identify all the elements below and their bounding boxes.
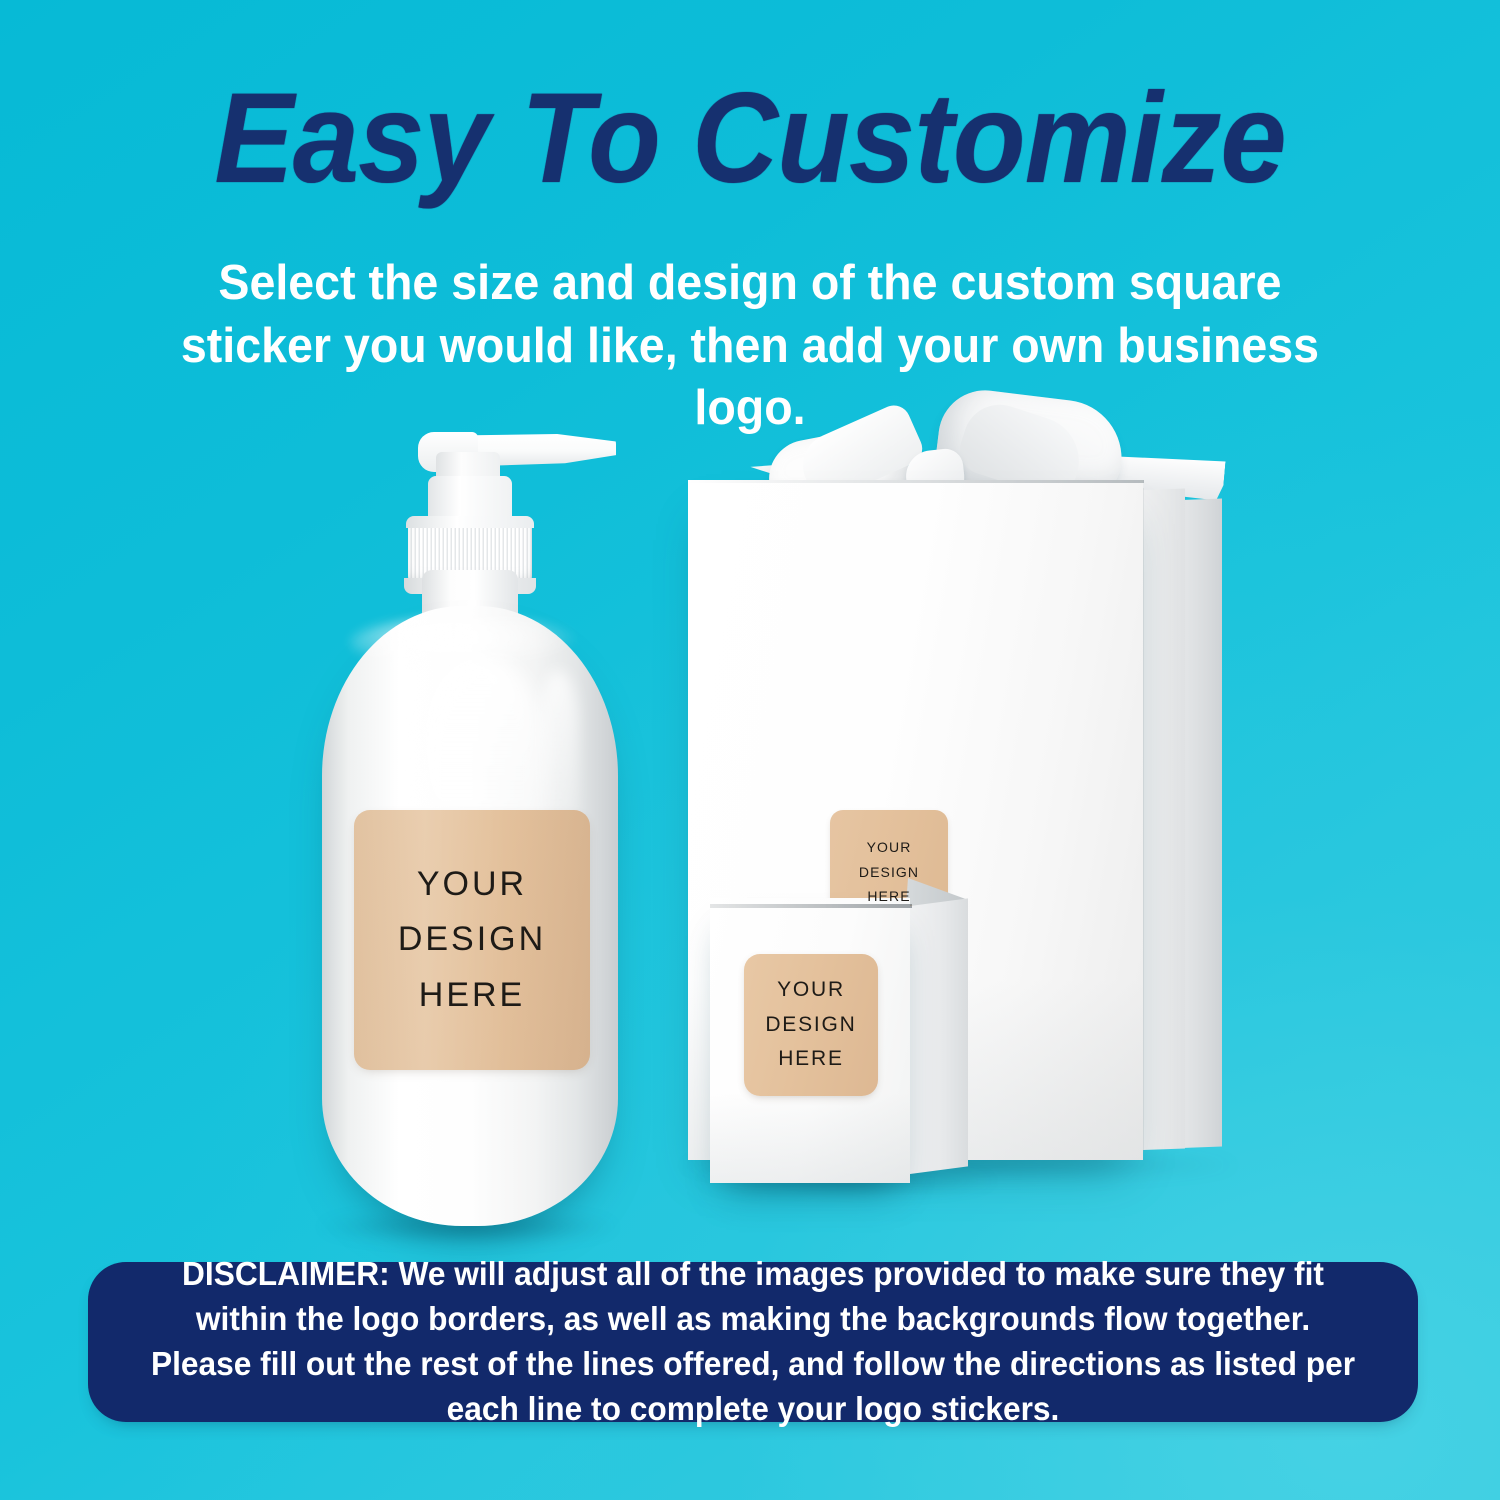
gift-box-lid-line: [688, 480, 1144, 483]
page-title: Easy To Customize: [53, 74, 1448, 205]
promo-banner: Easy To Customize Select the size and de…: [0, 0, 1500, 1500]
sticker-bottle-line-3: HERE: [419, 968, 525, 1023]
pump-bottle: YOUR DESIGN HERE: [310, 420, 630, 1230]
sticker-small-line-1: YOUR: [777, 973, 845, 1008]
sticker-on-gift-box[interactable]: YOUR DESIGN HERE: [830, 810, 948, 934]
sticker-on-small-box[interactable]: YOUR DESIGN HERE: [744, 954, 878, 1096]
product-mockup-scene: YOUR DESIGN HERE YOUR DESIGN HERE: [0, 380, 1500, 1250]
sticker-bottle-line-1: YOUR: [417, 857, 527, 912]
sticker-gift-text: YOUR DESIGN HERE: [830, 810, 948, 934]
sticker-gift-line-1: YOUR: [867, 835, 912, 859]
sticker-small-text: YOUR DESIGN HERE: [744, 954, 878, 1096]
sticker-small-line-2: DESIGN: [765, 1008, 856, 1043]
gift-box-side: [1143, 488, 1185, 1150]
sticker-bottle-text: YOUR DESIGN HERE: [354, 810, 590, 1070]
disclaimer-banner: DISCLAIMER: We will adjust all of the im…: [88, 1262, 1418, 1422]
sticker-on-bottle[interactable]: YOUR DESIGN HERE: [354, 810, 590, 1070]
sticker-gift-line-3: HERE: [867, 884, 910, 908]
disclaimer-text: DISCLAIMER: We will adjust all of the im…: [115, 1252, 1392, 1432]
gift-box-side-back: [1182, 499, 1222, 1148]
sticker-small-line-3: HERE: [778, 1042, 844, 1077]
sticker-gift-line-2: DESIGN: [859, 860, 919, 884]
disclaimer-label: DISCLAIMER:: [182, 1255, 390, 1292]
small-box-side-face: [910, 898, 968, 1174]
small-box: YOUR DESIGN HERE: [710, 890, 980, 1190]
sticker-bottle-line-2: DESIGN: [398, 912, 546, 967]
